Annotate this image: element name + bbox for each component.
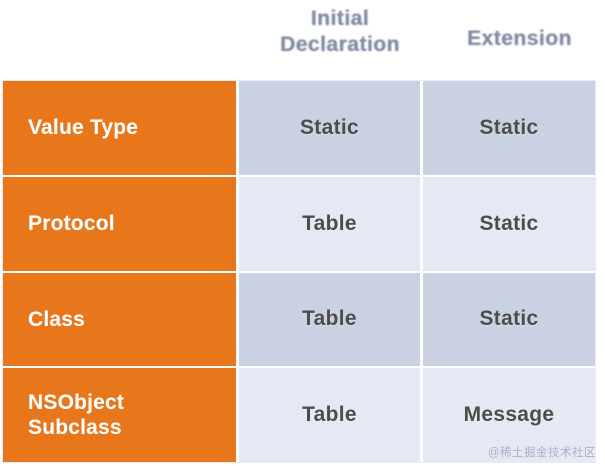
table-row: NSObject Subclass Table Message [3, 368, 595, 462]
cell-extension: Static [423, 273, 595, 367]
table-row: Class Table Static [3, 273, 595, 367]
table-row: Protocol Table Static [3, 177, 595, 271]
cell-initial-declaration: Table [239, 177, 420, 271]
cell-initial-declaration: Table [239, 368, 420, 462]
cell-initial-declaration: Static [239, 81, 420, 175]
column-headers: Initial Declaration Extension [0, 0, 605, 81]
comparison-table: Value Type Static Static Protocol Table … [3, 81, 595, 462]
row-label: NSObject Subclass [3, 368, 236, 462]
column-header-extension: Extension [432, 26, 605, 52]
row-label: Protocol [3, 177, 236, 271]
table-row: Value Type Static Static [3, 81, 595, 175]
cell-extension: Static [423, 177, 595, 271]
row-label: Value Type [3, 81, 236, 175]
column-header-initial-declaration: Initial Declaration [250, 6, 430, 58]
cell-extension: Static [423, 81, 595, 175]
cell-initial-declaration: Table [239, 273, 420, 367]
row-label: Class [3, 273, 236, 367]
cell-extension: Message [423, 368, 595, 462]
